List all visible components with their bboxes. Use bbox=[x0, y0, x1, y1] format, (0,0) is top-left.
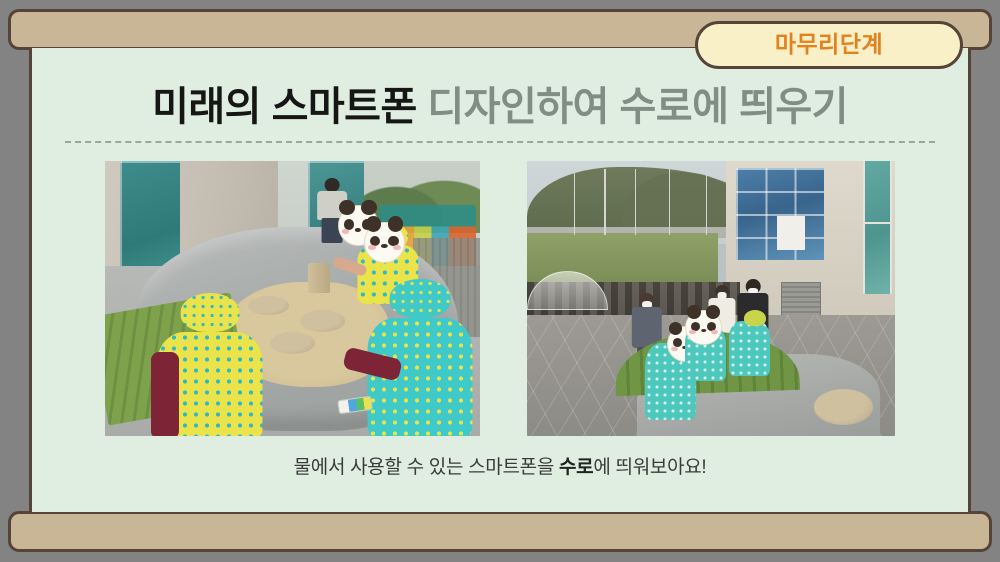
page-title: 미래의 스마트폰 디자인하여 수로에 띄우기 bbox=[32, 74, 968, 132]
child-cap bbox=[744, 310, 766, 327]
caption-before: 물에서 사용할 수 있는 스마트폰을 bbox=[294, 457, 559, 478]
panda-cheek bbox=[368, 245, 376, 250]
panda-cheek bbox=[393, 245, 401, 250]
child-smock bbox=[729, 321, 769, 376]
caption-bold: 수로 bbox=[559, 457, 593, 478]
flag-pole-group bbox=[564, 169, 733, 235]
child-cap-crown bbox=[744, 310, 766, 327]
photo-right[interactable] bbox=[527, 161, 895, 436]
flag-pole bbox=[574, 169, 576, 235]
panda-cheek bbox=[689, 330, 696, 334]
child-sleeve bbox=[151, 352, 178, 436]
child-figure bbox=[368, 279, 473, 436]
teal-facade-column bbox=[863, 161, 892, 294]
panda-eye bbox=[673, 338, 682, 347]
content-panel: 미래의 스마트폰 디자인하여 수로에 띄우기 bbox=[29, 48, 971, 512]
millstone bbox=[814, 389, 873, 425]
stage-badge-label: 마무리단계 bbox=[775, 33, 883, 58]
stone-disc bbox=[300, 310, 345, 332]
panda-nose bbox=[381, 244, 387, 248]
flag-pole bbox=[635, 169, 637, 235]
caption-after: 에 띄워보아요! bbox=[593, 457, 706, 478]
photo-row bbox=[58, 161, 942, 436]
panda-sticker bbox=[685, 310, 722, 346]
bottom-frame-bar bbox=[8, 511, 992, 552]
title-soft-part: 디자인하여 수로에 띄우기 bbox=[417, 85, 848, 129]
panda-cheek bbox=[711, 330, 718, 334]
child-cap bbox=[181, 293, 240, 332]
stage-badge[interactable]: 마무리단계 bbox=[695, 21, 963, 69]
title-strong-part: 미래의 스마트폰 bbox=[152, 85, 417, 129]
panda-face bbox=[686, 311, 721, 345]
panda-face bbox=[365, 223, 404, 262]
panda-cheek bbox=[342, 229, 350, 234]
panda-nose bbox=[355, 228, 361, 232]
wall-panel bbox=[777, 216, 806, 250]
flag-pole bbox=[706, 169, 708, 235]
flag-pole bbox=[604, 169, 606, 235]
photo-left[interactable] bbox=[105, 161, 480, 436]
panda-nose bbox=[701, 329, 707, 332]
panda-cheek bbox=[671, 347, 678, 351]
caption-text: 물에서 사용할 수 있는 스마트폰을 수로에 띄워보아요! bbox=[32, 452, 968, 479]
child-figure bbox=[158, 293, 263, 436]
title-divider bbox=[65, 141, 935, 143]
stone-disc bbox=[270, 332, 315, 354]
wooden-post bbox=[308, 263, 331, 293]
panda-sticker bbox=[364, 222, 405, 263]
slide-root: 미래의 스마트폰 디자인하여 수로에 띄우기 bbox=[0, 0, 1000, 562]
flag-pole bbox=[669, 169, 671, 235]
child-cap bbox=[390, 279, 451, 317]
